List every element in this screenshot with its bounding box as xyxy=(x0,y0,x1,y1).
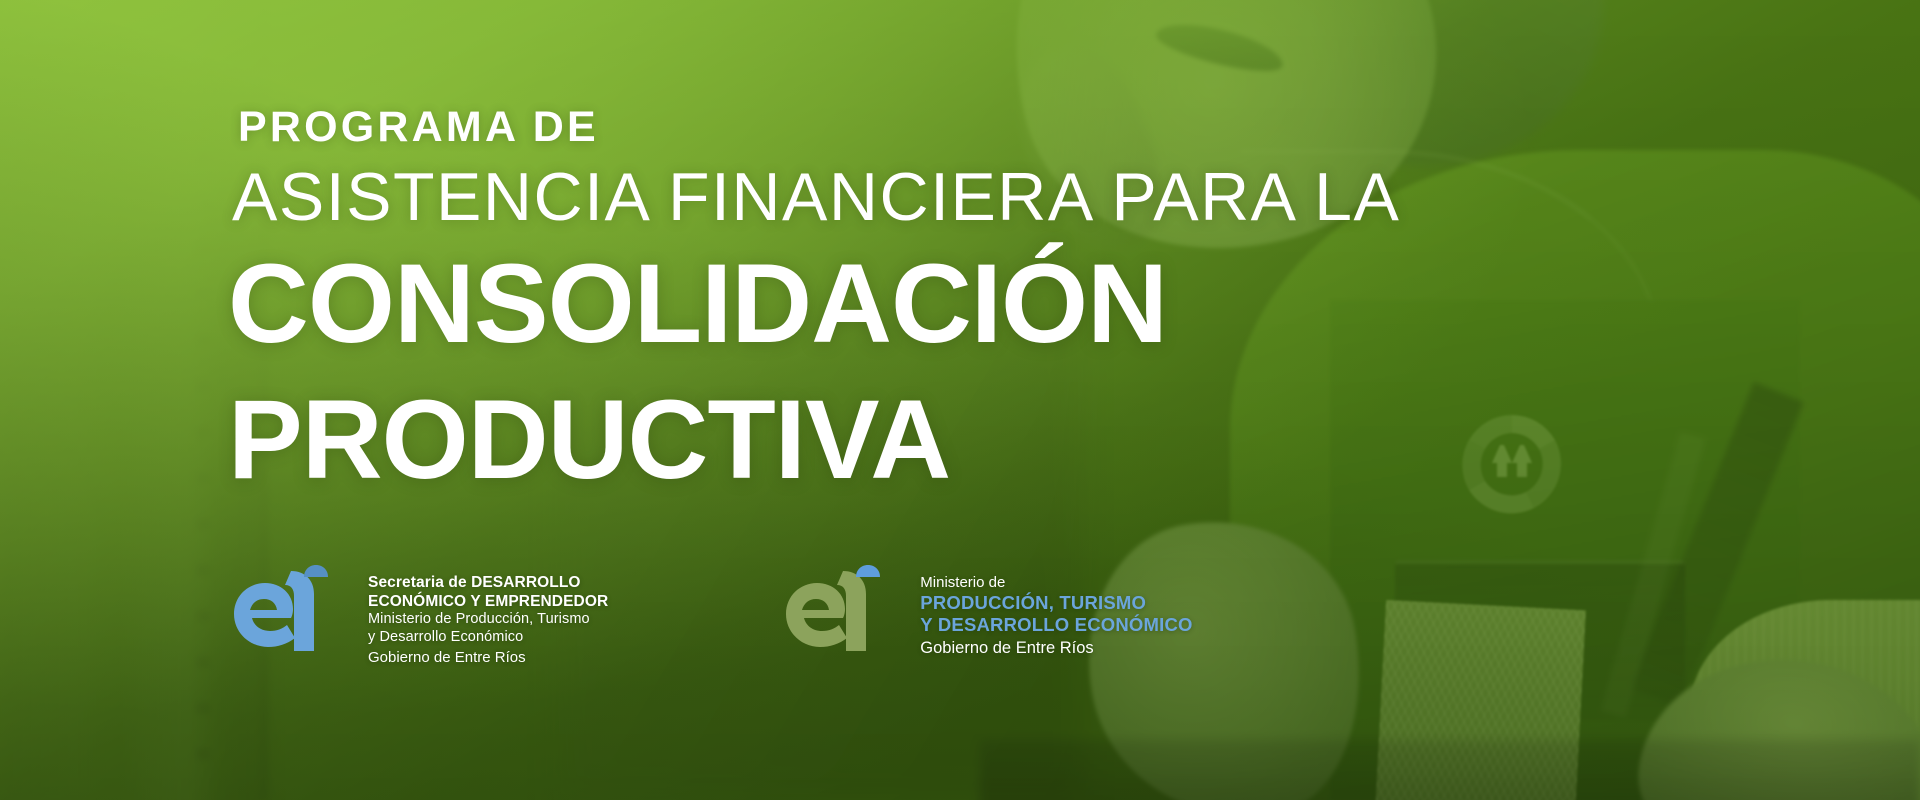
logo-line: y Desarrollo Económico xyxy=(368,629,608,646)
logo-lockup-secretaria[interactable]: Secretaria de DESARROLLO ECONÓMICO Y EMP… xyxy=(228,565,608,667)
er-logo-sage-icon xyxy=(780,565,906,657)
logo-line-emphasis: Y DESARROLLO ECONÓMICO xyxy=(920,614,1192,636)
promo-banner: PROGRAMA DE ASISTENCIA FINANCIERA PARA L… xyxy=(0,0,1920,800)
logo-text-secretaria: Secretaria de DESARROLLO ECONÓMICO Y EMP… xyxy=(368,565,608,667)
logo-line: Ministerio de Producción, Turismo xyxy=(368,611,608,628)
logo-line: Ministerio de xyxy=(920,574,1192,592)
banner-content: PROGRAMA DE ASISTENCIA FINANCIERA PARA L… xyxy=(0,0,1920,800)
headline-subtitle: ASISTENCIA FINANCIERA PARA LA xyxy=(232,163,1400,231)
headline-eyebrow: PROGRAMA DE xyxy=(238,106,599,149)
logo-text-ministerio: Ministerio de PRODUCCIÓN, TURISMO Y DESA… xyxy=(920,565,1192,659)
headline-secondary: PRODUCTIVA xyxy=(228,384,950,496)
logo-lockup-row: Secretaria de DESARROLLO ECONÓMICO Y EMP… xyxy=(228,565,1193,667)
logo-line: Secretaria de DESARROLLO xyxy=(368,574,608,593)
logo-line-government: Gobierno de Entre Ríos xyxy=(920,636,1192,659)
logo-line-government: Gobierno de Entre Ríos xyxy=(368,646,608,667)
er-logo-blue-icon xyxy=(228,565,354,657)
logo-line: ECONÓMICO Y EMPRENDEDOR xyxy=(368,593,608,612)
logo-lockup-ministerio[interactable]: Ministerio de PRODUCCIÓN, TURISMO Y DESA… xyxy=(780,565,1192,659)
logo-line-emphasis: PRODUCCIÓN, TURISMO xyxy=(920,592,1192,614)
headline-primary: CONSOLIDACIÓN xyxy=(228,248,1167,360)
